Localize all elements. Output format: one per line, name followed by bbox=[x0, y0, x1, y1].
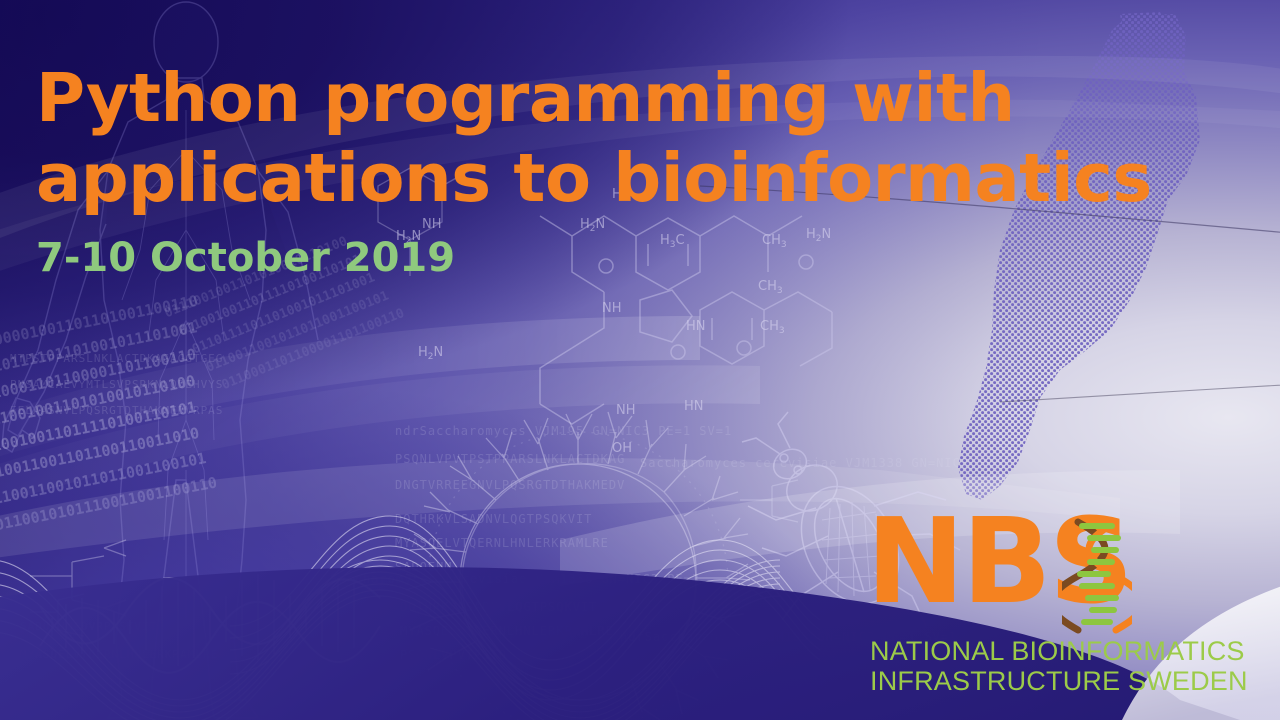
nbis-logo-subtitle: NATIONAL BIOINFORMATICS INFRASTRUCTURE S… bbox=[870, 636, 1226, 696]
course-date: 7-10 October 2019 bbox=[36, 234, 1266, 282]
presentation-slide: MTPSTPPARSLNKLACTDKAGAGGTGEG PNSAMCAEVYM… bbox=[0, 0, 1280, 720]
dna-helix-icon bbox=[1062, 516, 1132, 634]
title-line-1: Python programming with bbox=[36, 58, 1266, 138]
title-block: Python programming with applications to … bbox=[36, 58, 1266, 282]
nbis-logo: NBS NATIONAL bbox=[866, 512, 1226, 702]
nbis-logo-mark: NBS bbox=[866, 512, 1226, 637]
nbis-subtitle-line-1: NATIONAL BIOINFORMATICS bbox=[870, 636, 1245, 666]
nbis-subtitle-line-2: INFRASTRUCTURE SWEDEN bbox=[870, 666, 1226, 696]
title-line-2: applications to bioinformatics bbox=[36, 138, 1266, 218]
